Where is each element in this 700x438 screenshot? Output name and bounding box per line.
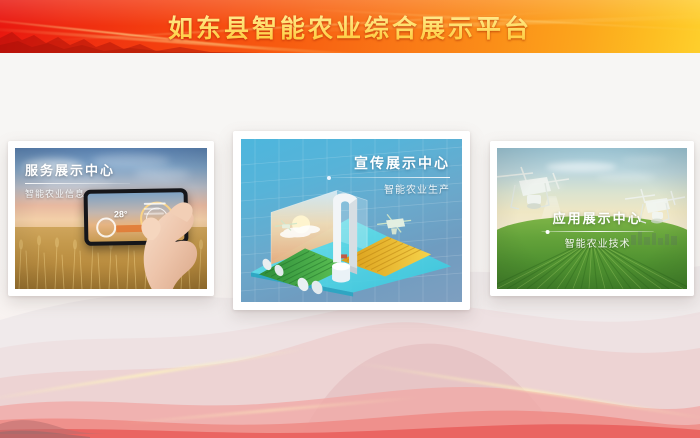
page-title: 如东县智能农业综合展示平台: [0, 0, 700, 53]
card-service-title: 服务展示中心: [25, 160, 130, 179]
card-promotion-center[interactable]: 宣传展示中心 智能农业生产: [233, 131, 470, 310]
card-service-subtitle: 智能农业信息: [25, 187, 130, 200]
card-application-caption: 应用展示中心 智能农业技术: [542, 208, 654, 250]
card-application-subtitle: 智能农业技术: [542, 235, 654, 250]
card-promotion-subtitle: 智能农业生产: [332, 181, 450, 196]
card-promotion-image: 宣传展示中心 智能农业生产: [241, 139, 462, 302]
caption-divider: [542, 231, 654, 232]
isometric-farm-illustration: [245, 188, 457, 299]
card-promotion-caption: 宣传展示中心 智能农业生产: [332, 153, 450, 196]
card-application-title: 应用展示中心: [542, 208, 654, 227]
caption-divider: [25, 183, 130, 184]
card-application-center[interactable]: 应用展示中心 智能农业技术: [490, 141, 694, 296]
caption-divider: [332, 177, 450, 178]
card-promotion-title: 宣传展示中心: [332, 153, 450, 173]
hand-holding-phone: [125, 182, 203, 289]
app-root: 如东县智能农业综合展示平台: [0, 0, 700, 438]
card-service-caption: 服务展示中心 智能农业信息: [25, 160, 130, 200]
hud-small-ring-icon: [96, 217, 116, 237]
header-banner: 如东县智能农业综合展示平台: [0, 0, 700, 53]
card-application-image: 应用展示中心 智能农业技术: [497, 148, 687, 289]
cloud-icon: [134, 168, 190, 180]
drone-icon: [378, 214, 412, 234]
card-service-image: 28°: [15, 148, 207, 289]
card-service-center[interactable]: 28°: [8, 141, 214, 296]
